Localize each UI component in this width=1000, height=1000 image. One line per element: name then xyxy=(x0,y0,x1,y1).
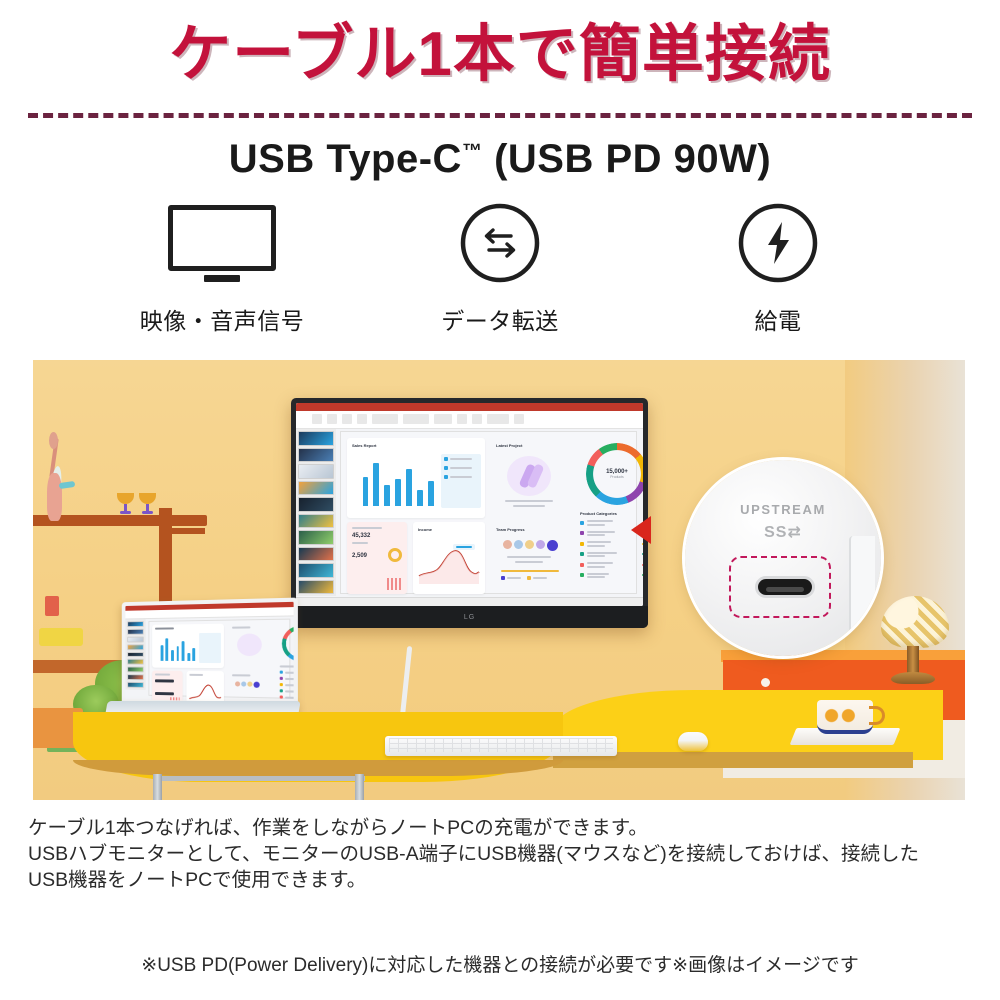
subtitle-main: USB Type-C xyxy=(229,137,462,181)
feature-video-audio: 映像・音声信号 xyxy=(83,200,361,336)
footnote: ※USB PD(Power Delivery)に対応した機器との接続が必要です※… xyxy=(0,950,1000,977)
description-line-3: USB機器をノートPCで使用できます。 xyxy=(28,867,978,893)
income-title: Income xyxy=(418,527,480,532)
subtitle-suffix: (USB PD 90W) xyxy=(482,137,771,181)
callout-arrow-icon xyxy=(631,516,651,544)
desk-edge xyxy=(73,760,563,776)
product-feature-graphic: ケーブル1本で簡単接続 USB Type-C™ (USB PD 90W) 映像・… xyxy=(0,0,1000,1000)
card-sales-report: Sales Report xyxy=(347,438,485,518)
pink-vase xyxy=(47,473,62,521)
card-income: Income xyxy=(413,522,485,594)
golden-cup-1 xyxy=(117,493,134,515)
feature-data-transfer: データ転送 xyxy=(361,200,639,336)
sales-report-title: Sales Report xyxy=(352,443,480,448)
coffee-mug xyxy=(817,700,873,734)
card-kpi: 45,332 2,509 xyxy=(347,522,407,594)
description-line-2: USBハブモニターとして、モニターのUSB-A端子にUSB機器(マウスなど)を接… xyxy=(28,841,978,867)
desk-leg-left xyxy=(153,774,162,800)
port-callout: UPSTREAM SS⇄ xyxy=(685,460,881,656)
slide-thumbnail-pane xyxy=(296,429,336,596)
keyboard xyxy=(385,736,617,756)
dashboard-mock: Sales Report xyxy=(296,403,643,606)
desk-leg-right xyxy=(355,774,364,800)
lifestyle-photo: Sales Report xyxy=(33,360,965,800)
feature-icon-row: 映像・音声信号 データ転送 給電 xyxy=(0,200,1000,336)
yellow-box xyxy=(39,628,83,646)
shelf-rail xyxy=(159,528,205,534)
monitor-chin: LG xyxy=(291,606,648,628)
donut-label: Products xyxy=(610,475,623,479)
lg-monitor: Sales Report xyxy=(291,398,648,628)
latest-project-title: Latest Project xyxy=(496,443,564,448)
usb-c-port-icon xyxy=(755,576,815,598)
table-lamp-base xyxy=(891,672,935,684)
feature-label-video-audio: 映像・音声信号 xyxy=(140,302,305,336)
kpi-1-value: 45,332 xyxy=(352,533,402,539)
laptop-screen xyxy=(125,602,293,703)
feature-power-delivery: 給電 xyxy=(639,200,917,336)
dashboard-canvas: Sales Report xyxy=(340,431,637,594)
power-bolt-icon xyxy=(735,200,821,286)
lg-logo: LG xyxy=(464,614,475,621)
card-team-progress: Team Progress xyxy=(491,522,569,594)
red-box xyxy=(45,596,59,616)
laptop-lid xyxy=(122,598,298,711)
dashed-divider xyxy=(28,113,972,118)
description-line-1: ケーブル1本つなげれば、作業をしながらノートPCの充電ができます。 xyxy=(28,815,978,841)
card-latest-project: Latest Project xyxy=(491,438,569,518)
golden-cup-2 xyxy=(139,493,156,515)
laptop xyxy=(105,600,298,730)
monitor-icon xyxy=(168,200,276,286)
cabinet-knob xyxy=(761,678,770,687)
page-title: ケーブル1本で簡単接続 xyxy=(0,22,1000,87)
upstream-label: UPSTREAM xyxy=(685,502,881,517)
description-text: ケーブル1本つなげれば、作業をしながらノートPCの充電ができます。 USBハブモ… xyxy=(28,815,978,893)
mouse xyxy=(678,732,708,751)
monitor-screen: Sales Report xyxy=(296,403,643,606)
trademark-symbol: ™ xyxy=(462,141,483,163)
data-transfer-icon xyxy=(457,200,543,286)
superspeed-usb-icon: SS⇄ xyxy=(685,522,881,542)
feature-label-power: 給電 xyxy=(755,302,802,336)
desk-brace xyxy=(153,776,365,781)
subtitle: USB Type-C™ (USB PD 90W) xyxy=(0,137,1000,182)
feature-label-data-transfer: データ転送 xyxy=(441,302,559,336)
team-progress-title: Team Progress xyxy=(496,527,564,532)
dried-bud xyxy=(49,432,58,449)
